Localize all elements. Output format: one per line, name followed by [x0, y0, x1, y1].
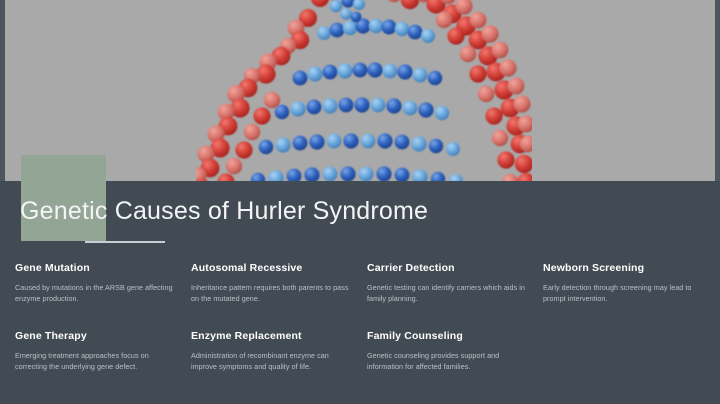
hero-right-edge — [715, 0, 720, 182]
topic-card-body: Genetic counseling provides support and … — [367, 350, 529, 373]
topic-card-body: Caused by mutations in the ARSB gene aff… — [15, 282, 177, 305]
topic-card-gene-mutation: Gene Mutation Caused by mutations in the… — [15, 262, 185, 330]
slide-root: Genetic Causes of Hurler Syndrome Gene M… — [0, 0, 720, 404]
hero-left-edge — [0, 0, 5, 182]
topic-card-enzyme-replacement: Enzyme Replacement Administration of rec… — [191, 330, 361, 398]
topic-card-family-counseling: Family Counseling Genetic counseling pro… — [367, 330, 537, 398]
topic-card-title: Autosomal Recessive — [191, 262, 353, 275]
hero-image-band — [0, 0, 720, 182]
topic-card-body: Inheritance pattern requires both parent… — [191, 282, 353, 305]
topic-card-newborn-screening: Newborn Screening Early detection throug… — [543, 262, 713, 330]
page-title: Genetic Causes of Hurler Syndrome — [20, 197, 428, 226]
topic-grid: Gene Mutation Caused by mutations in the… — [15, 262, 707, 398]
topic-card-body: Administration of recombinant enzyme can… — [191, 350, 353, 373]
dna-double-helix-icon — [196, 0, 532, 182]
topic-card-title: Family Counseling — [367, 330, 529, 343]
topic-card-body: Emerging treatment approaches focus on c… — [15, 350, 177, 373]
topic-card-title: Gene Mutation — [15, 262, 177, 275]
topic-card-gene-therapy: Gene Therapy Emerging treatment approach… — [15, 330, 185, 398]
topic-card-body: Early detection through screening may le… — [543, 282, 705, 305]
title-underline-rule — [85, 241, 165, 243]
topic-card-carrier-detection: Carrier Detection Genetic testing can id… — [367, 262, 537, 330]
topic-card-title: Carrier Detection — [367, 262, 529, 275]
topic-card-title: Newborn Screening — [543, 262, 705, 275]
topic-card-autosomal-recessive: Autosomal Recessive Inheritance pattern … — [191, 262, 361, 330]
topic-card-body: Genetic testing can identify carriers wh… — [367, 282, 529, 305]
topic-card-title: Gene Therapy — [15, 330, 177, 343]
topic-card-title: Enzyme Replacement — [191, 330, 353, 343]
